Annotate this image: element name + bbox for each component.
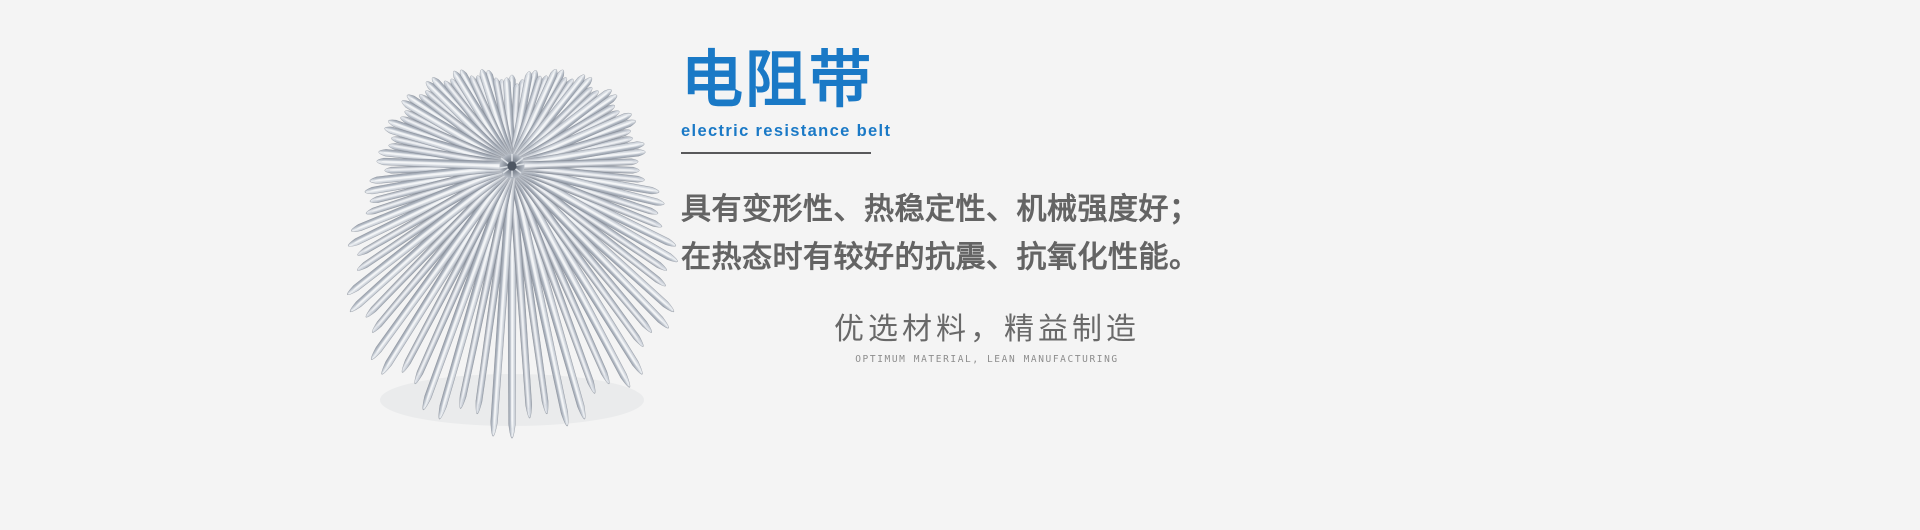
page-subtitle: electric resistance belt bbox=[681, 122, 891, 141]
slogan-block: 优选材料，精益制造 OPTIMUM MATERIAL, LEAN MANUFAC… bbox=[777, 312, 1197, 365]
text-column: 电阻带 electric resistance belt 具有变形性、热稳定性、… bbox=[681, 0, 1781, 530]
description-block: 具有变形性、热稳定性、机械强度好； 在热态时有较好的抗震、抗氧化性能。 bbox=[681, 186, 1301, 282]
slogan-english: OPTIMUM MATERIAL, LEAN MANUFACTURING bbox=[777, 354, 1197, 365]
title-divider bbox=[681, 152, 871, 154]
description-line-2: 在热态时有较好的抗震、抗氧化性能。 bbox=[681, 234, 1301, 282]
product-image-figure bbox=[300, 28, 720, 458]
product-banner: 电阻带 electric resistance belt 具有变形性、热稳定性、… bbox=[0, 0, 1920, 530]
description-line-1: 具有变形性、热稳定性、机械强度好； bbox=[681, 186, 1301, 234]
page-title: 电阻带 bbox=[681, 48, 891, 112]
resistance-belt-photo bbox=[300, 28, 720, 458]
title-block: 电阻带 electric resistance belt bbox=[681, 48, 891, 141]
slogan-chinese: 优选材料，精益制造 bbox=[777, 312, 1197, 349]
